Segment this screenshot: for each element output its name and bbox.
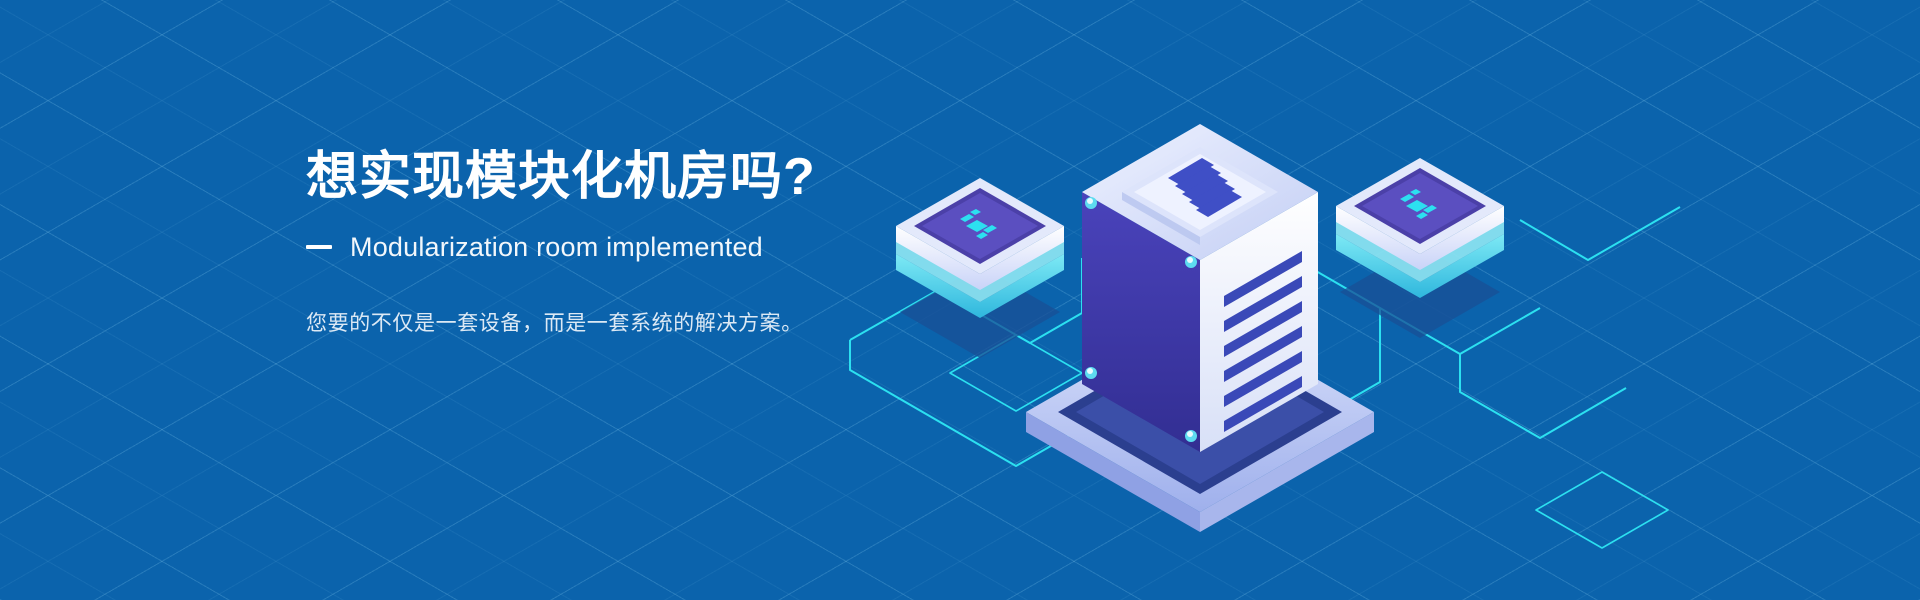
- divider-dash: [306, 245, 332, 249]
- subtitle-text: Modularization room implemented: [350, 232, 763, 263]
- server-tower: [1026, 124, 1374, 532]
- chip-module-left: [896, 178, 1064, 358]
- chip-module-right: [1336, 158, 1504, 338]
- isometric-server-illustration: [820, 40, 1780, 560]
- accent-diamond-outline: [1536, 472, 1668, 548]
- hero-banner: 想实现模块化机房吗? Modularization room implement…: [0, 0, 1920, 600]
